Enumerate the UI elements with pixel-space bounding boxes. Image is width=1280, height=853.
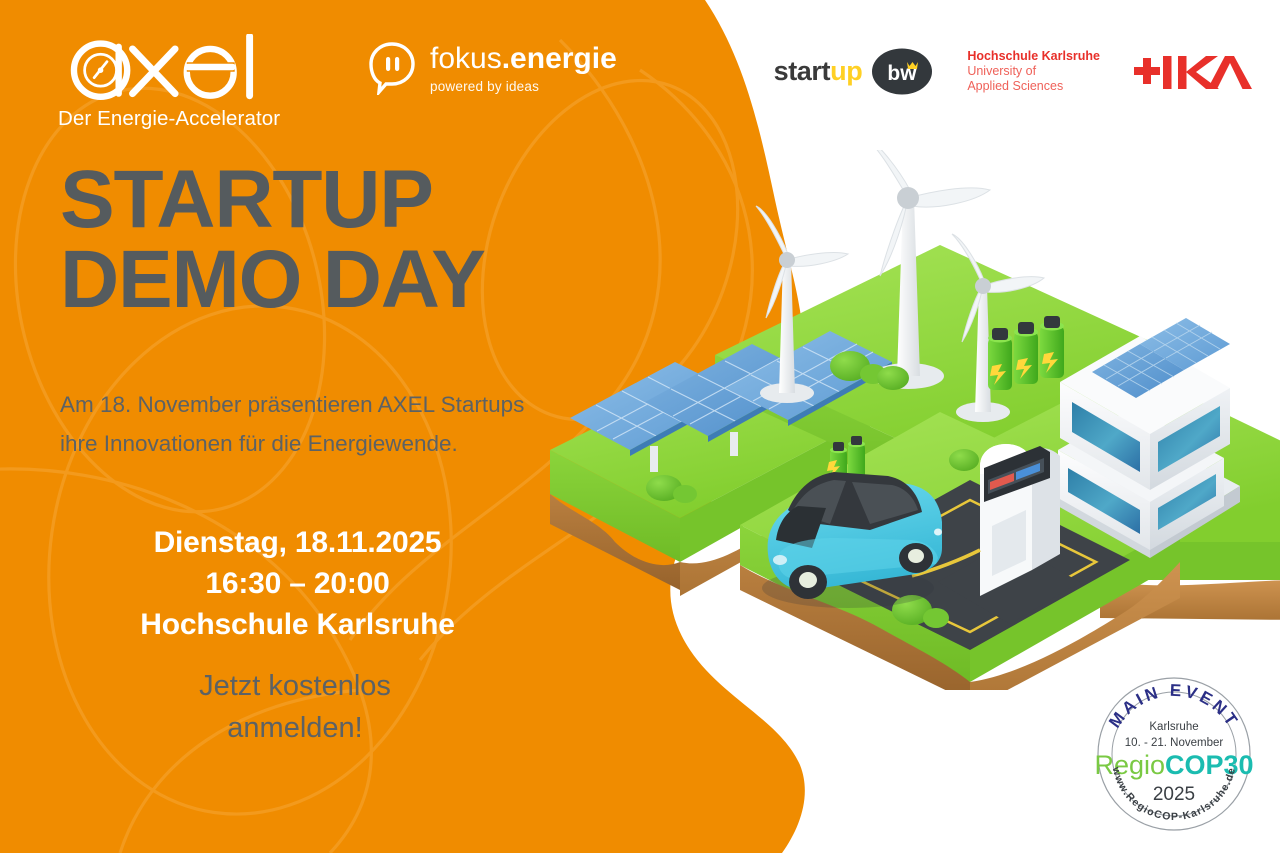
event-description: Am 18. November präsentieren AXEL Startu…	[60, 385, 660, 463]
subcopy-line-1: Am 18. November präsentieren AXEL Startu…	[60, 385, 660, 424]
axel-logo[interactable]: Der Energie-Accelerator	[58, 34, 313, 131]
badge-city: Karlsruhe	[1149, 721, 1198, 733]
headline-line-2: DEMO DAY	[60, 240, 485, 320]
fokus-energie-wordmark: fokus.energie	[430, 44, 617, 74]
registration-call-to-action[interactable]: Jetzt kostenlos anmelden!	[0, 665, 590, 749]
event-details: Dienstag, 18.11.2025 16:30 – 20:00 Hochs…	[0, 522, 595, 645]
startup-bw-logo[interactable]: startup bw	[774, 48, 934, 95]
fokus-name-light: fokus	[430, 42, 502, 75]
poster-canvas: Der Energie-Accelerator fokus.energie po…	[0, 0, 1280, 853]
page-title: STARTUP DEMO DAY	[60, 160, 485, 319]
headline-line-1: STARTUP	[60, 160, 485, 240]
startup-bw-badge: bw	[871, 48, 933, 95]
regiocop30-main-event-badge[interactable]: MAIN EVENT Karlsruhe 10. - 21. November …	[1088, 668, 1260, 840]
partner-logos-left: Der Energie-Accelerator fokus.energie po…	[58, 34, 617, 131]
hochschule-karlsruhe-text: Hochschule Karlsruhe University of Appli…	[967, 49, 1100, 95]
fokus-energie-logo[interactable]: fokus.energie powered by ideas	[367, 34, 617, 95]
startup-word-dark: start	[774, 56, 831, 86]
axel-wordmark	[58, 34, 303, 100]
badge-dates: 10. - 21. November	[1125, 737, 1224, 749]
event-venue: Hochschule Karlsruhe	[0, 604, 595, 645]
event-time: 16:30 – 20:00	[0, 563, 595, 604]
axel-tagline: Der Energie-Accelerator	[58, 107, 313, 131]
fokus-name-bold: .energie	[502, 42, 617, 75]
hka-line2: University of	[967, 64, 1100, 79]
hka-line3: Applied Sciences	[967, 79, 1100, 94]
hka-logo-mark[interactable]	[1134, 50, 1252, 94]
hka-line1: Hochschule Karlsruhe	[967, 49, 1100, 64]
startup-bw-wordmark: startup	[774, 56, 863, 87]
event-date: Dienstag, 18.11.2025	[0, 522, 595, 563]
cta-line-1: Jetzt kostenlos	[0, 665, 590, 707]
cta-line-2: anmelden!	[0, 707, 590, 749]
bush	[949, 449, 979, 471]
badge-year: 2025	[1153, 784, 1195, 805]
fokus-tagline: powered by ideas	[430, 79, 617, 94]
speech-bubble-pause-icon	[367, 41, 417, 95]
startup-word-yellow: up	[830, 56, 862, 86]
partner-logos-right: startup bw Hochschule Karlsruhe Universi…	[774, 48, 1252, 95]
subcopy-line-2: ihre Innovationen für die Energiewende.	[60, 424, 660, 463]
